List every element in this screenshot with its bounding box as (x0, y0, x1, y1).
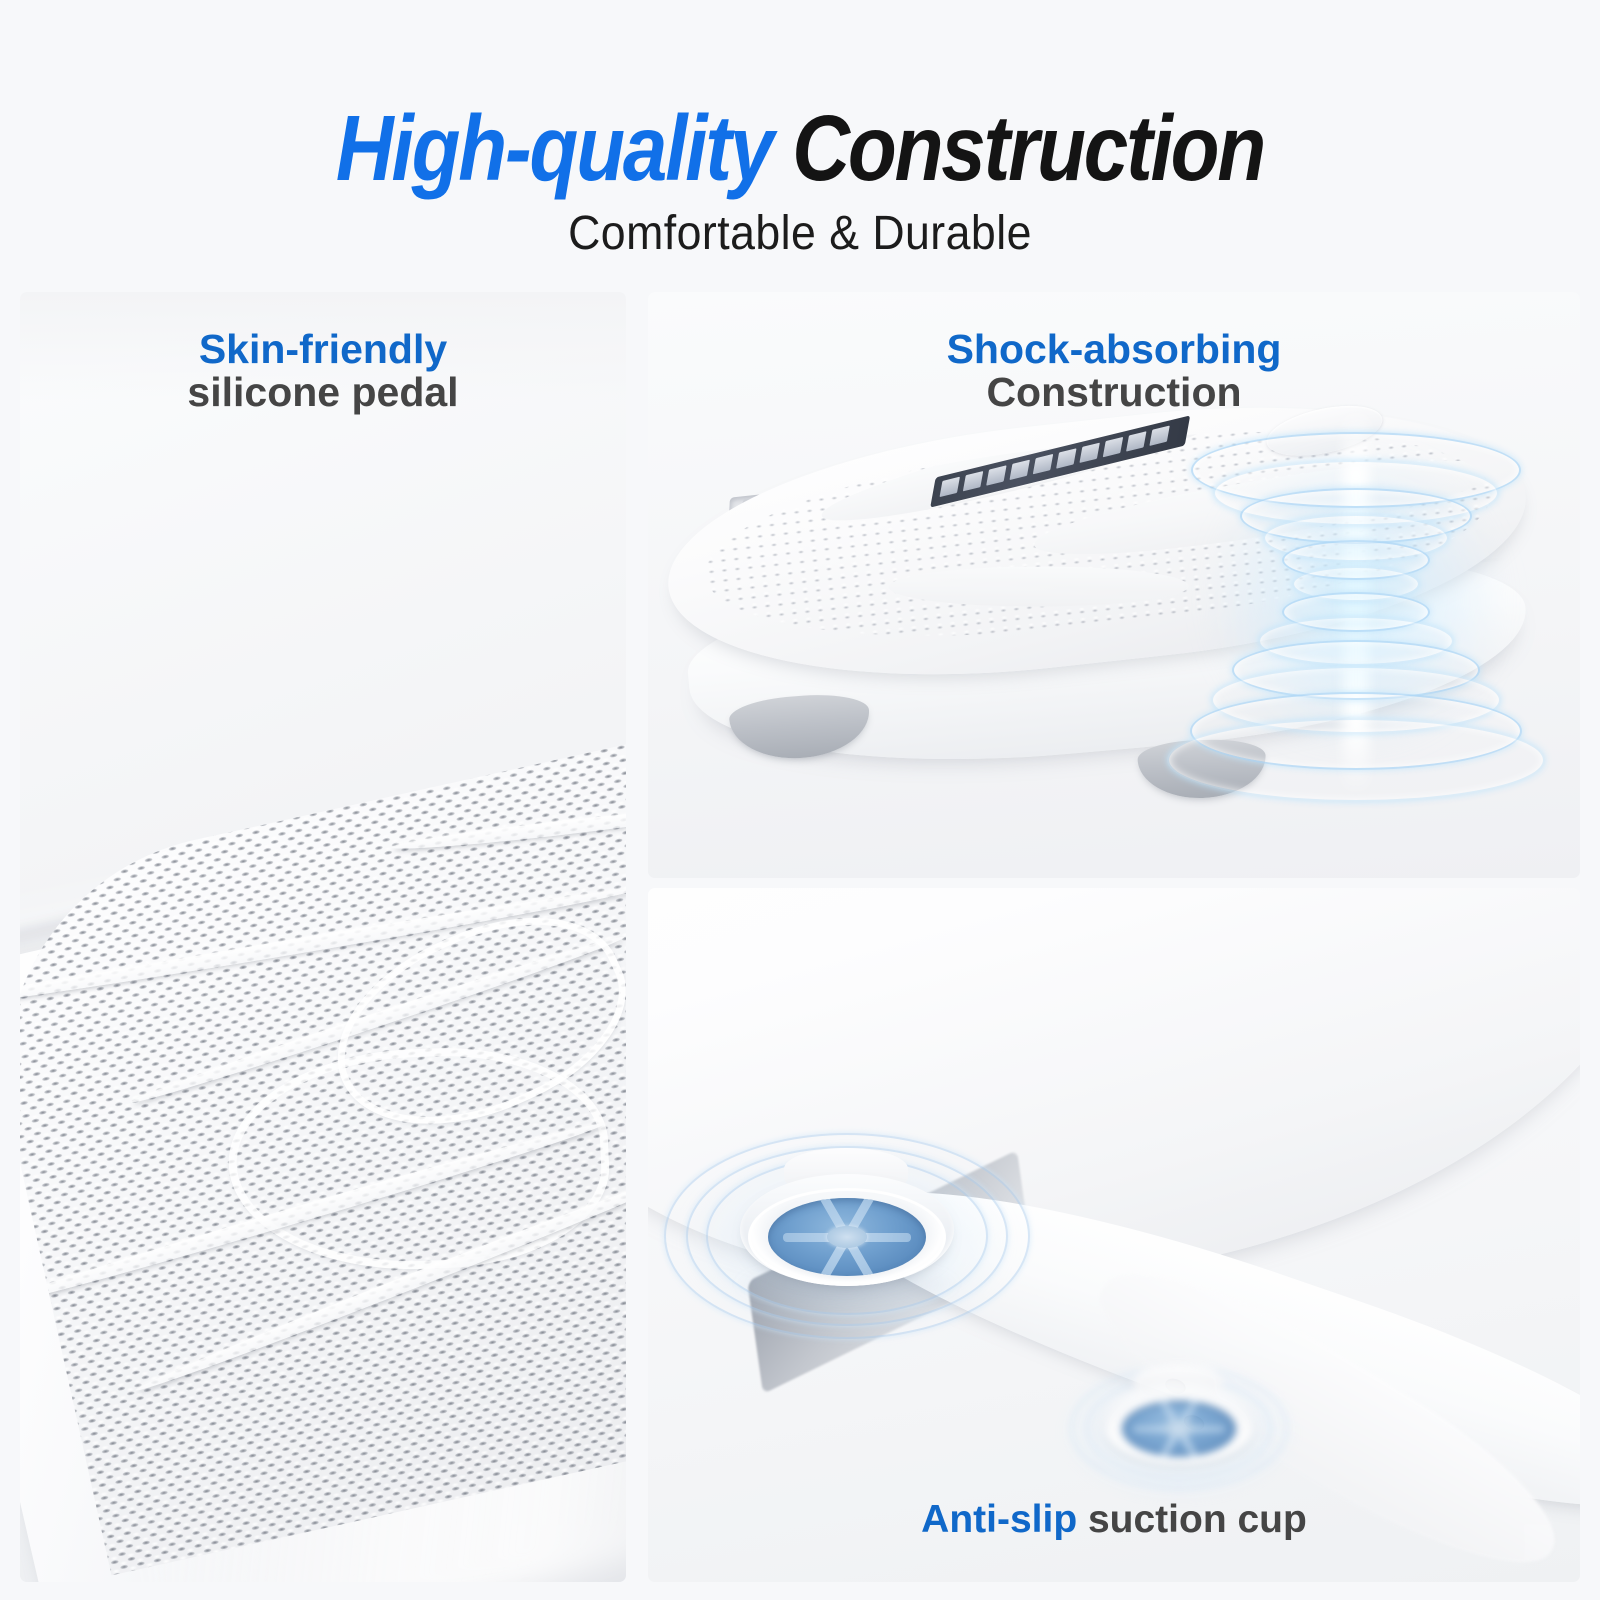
caption-tr-blue: Shock-absorbing (947, 326, 1282, 372)
suction-cup-hub (827, 1226, 867, 1248)
product-feature-graphic: High-quality Construction Comfortable & … (0, 0, 1600, 1600)
panel-anti-slip-suction-cup: Anti-slip suction cup (648, 888, 1580, 1582)
panel-skin-friendly-silicone-pedal: Skin-friendly silicone pedal (20, 292, 626, 1582)
panel-shock-absorbing-construction: Shock-absorbing Construction (648, 292, 1580, 878)
caption-left-dark: silicone pedal (20, 371, 626, 414)
pedal-molded-relief (20, 715, 626, 1576)
caption-br-blue: Anti-slip (921, 1498, 1077, 1541)
caption-anti-slip: Anti-slip suction cup (648, 1499, 1580, 1540)
caption-br-dark: suction cup (1088, 1498, 1307, 1541)
suction-cup-far (1089, 1378, 1269, 1479)
suction-cup-face (768, 1198, 926, 1276)
page-subtitle: Comfortable & Durable (56, 206, 1544, 261)
caption-left-blue: Skin-friendly (199, 326, 447, 372)
silicone-pad-surface (20, 715, 626, 1576)
page-title: High-quality Construction (112, 95, 1488, 202)
headline-blue-part: High-quality (336, 96, 792, 200)
headline-dark-part: Construction (792, 96, 1264, 200)
silicone-pedal-photo (20, 292, 626, 1582)
suction-cup-main (722, 1166, 972, 1306)
caption-skin-friendly: Skin-friendly silicone pedal (20, 328, 626, 415)
suction-cup-far-hub (1165, 1421, 1194, 1437)
vibration-glow-effect (1146, 410, 1566, 790)
caption-tr-dark: Construction (648, 371, 1580, 414)
header: High-quality Construction Comfortable & … (0, 0, 1600, 292)
suction-cup-photo (648, 888, 1580, 1582)
caption-shock-absorbing: Shock-absorbing Construction (648, 328, 1580, 415)
suction-cup-far-face (1122, 1401, 1236, 1457)
